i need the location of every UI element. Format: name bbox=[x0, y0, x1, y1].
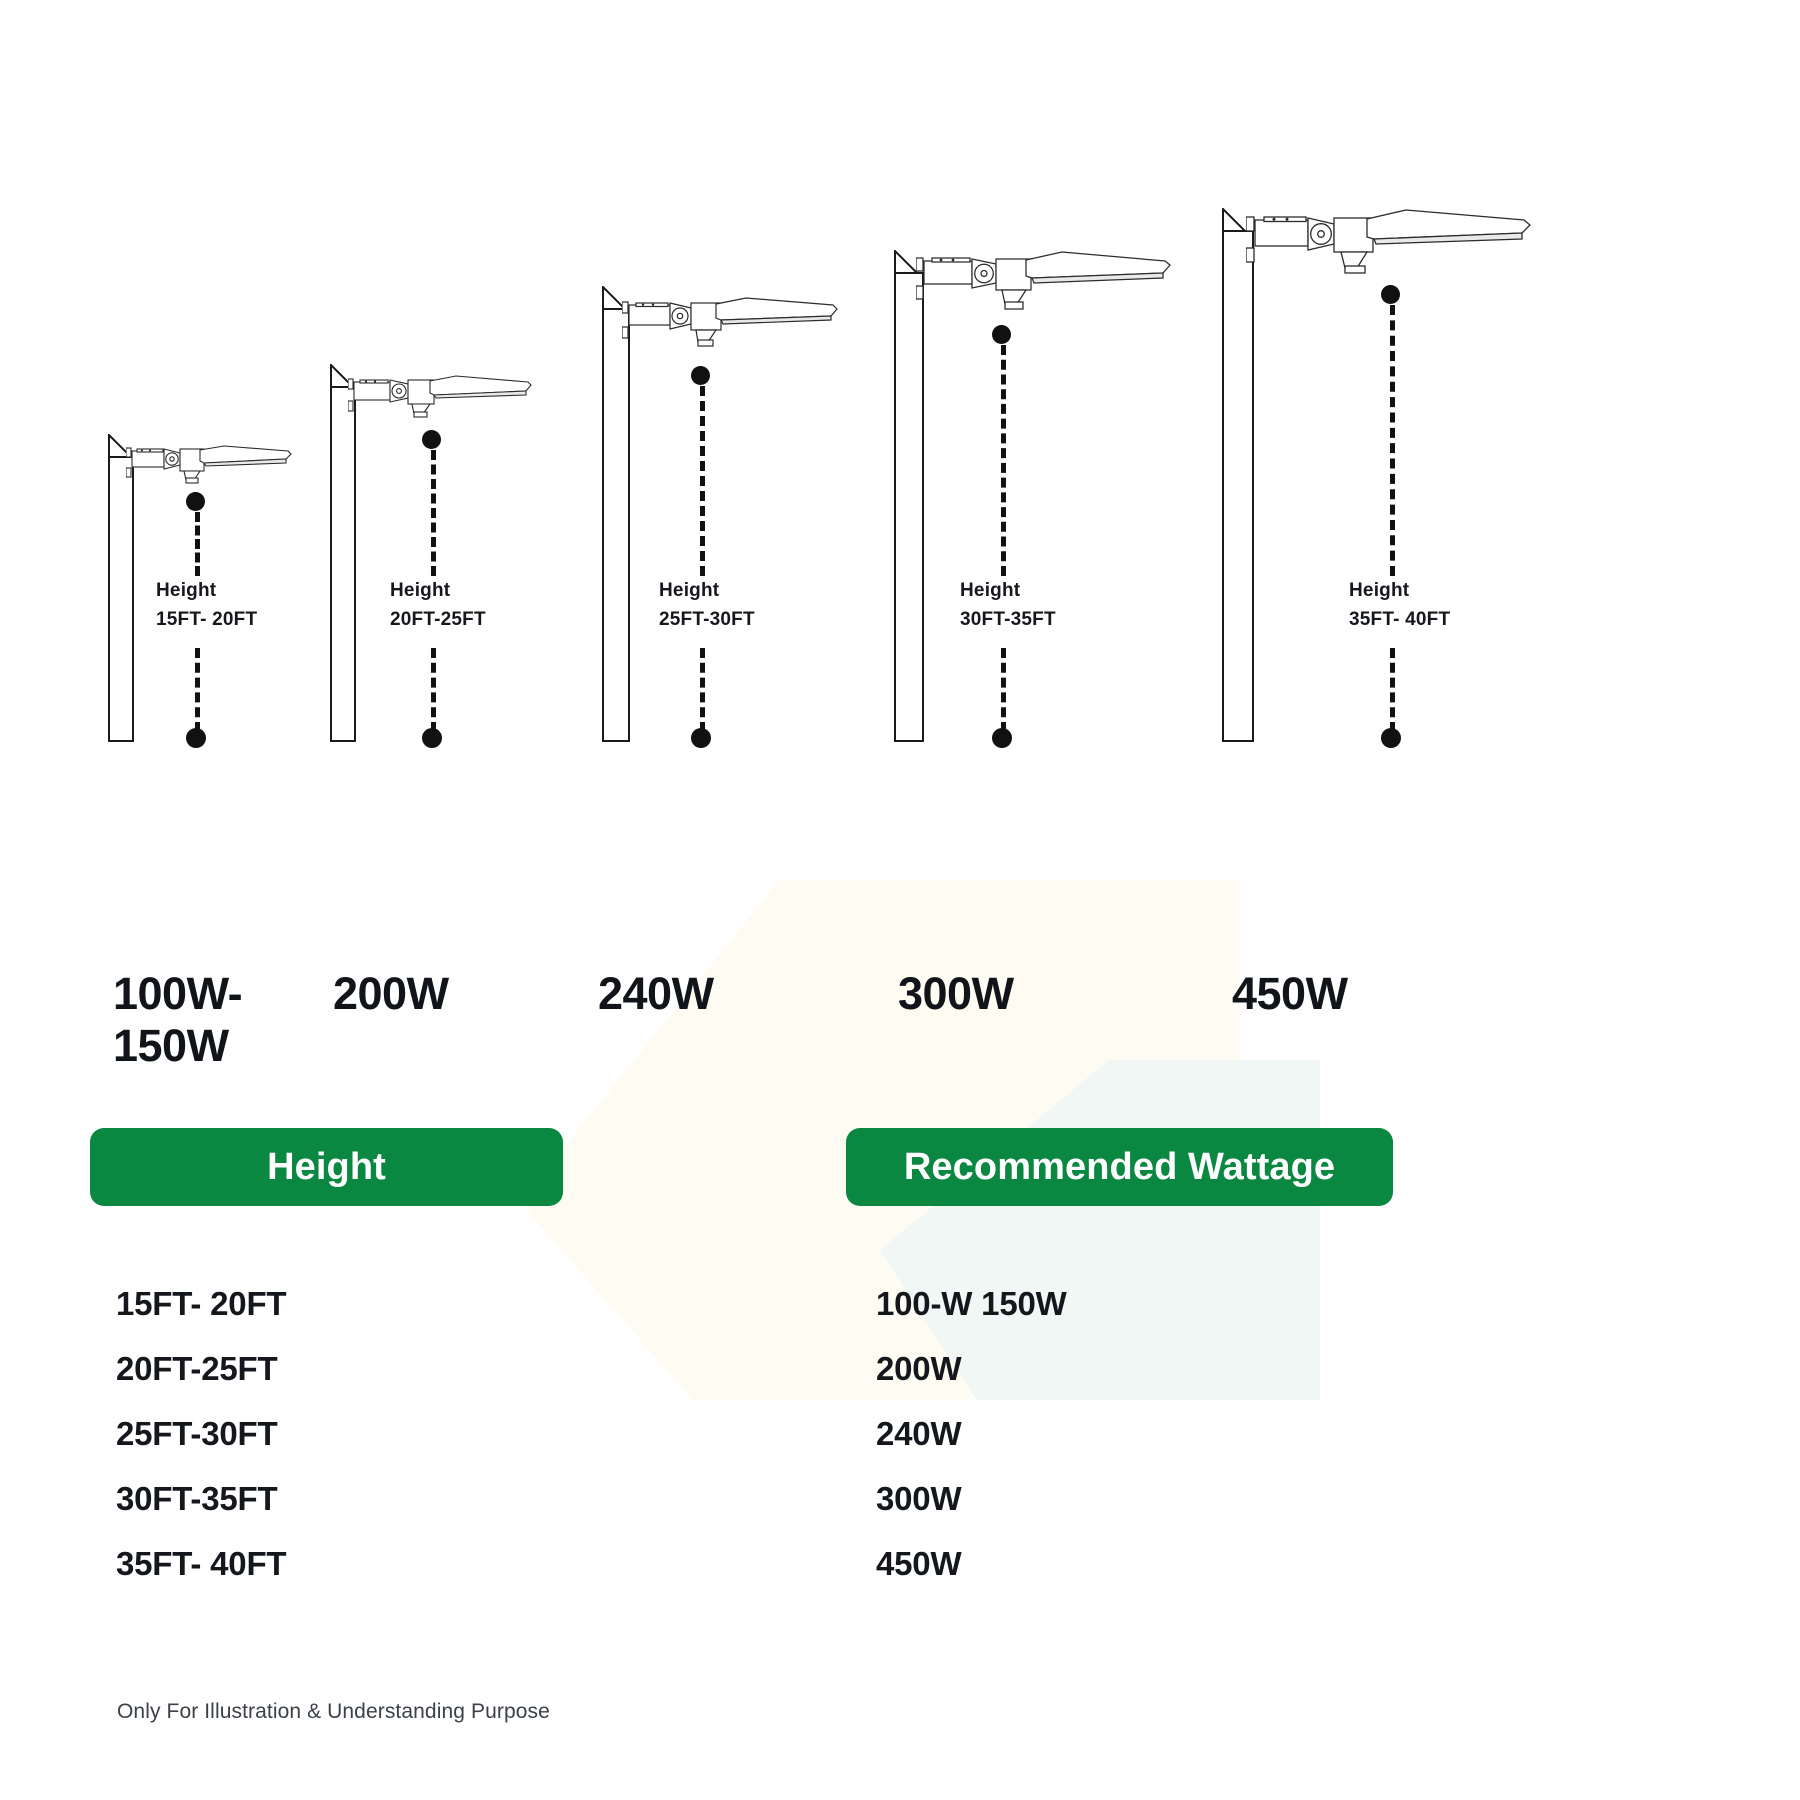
height-range-4: 30FT-35FT bbox=[960, 605, 1056, 634]
luminaire-fixture-4 bbox=[916, 246, 1174, 312]
beam-dash-lower-5 bbox=[1390, 648, 1395, 732]
height-caption-1: Height bbox=[156, 576, 257, 605]
wattage-callout-1: 100W- 150W bbox=[113, 968, 242, 1072]
beam-dash-lower-3 bbox=[700, 648, 705, 732]
height-caption-2: Height bbox=[390, 576, 486, 605]
beam-dash-upper-2 bbox=[431, 450, 436, 576]
height-caption-4: Height bbox=[960, 576, 1056, 605]
height-range-3: 25FT-30FT bbox=[659, 605, 755, 634]
beam-ground-dot-5 bbox=[1381, 728, 1401, 748]
beam-dash-lower-1 bbox=[195, 648, 200, 732]
table-cell-height-4: 30FT-35FT bbox=[116, 1480, 277, 1518]
table-cell-height-3: 25FT-30FT bbox=[116, 1415, 277, 1453]
pole-height-label-4: Height 30FT-35FT bbox=[960, 576, 1056, 635]
pole-height-label-2: Height 20FT-25FT bbox=[390, 576, 486, 635]
table-cell-wattage-5: 450W bbox=[876, 1545, 961, 1583]
beam-dash-upper-3 bbox=[700, 386, 705, 576]
beam-origin-dot-2 bbox=[422, 430, 441, 449]
wattage-column-header-pill: Recommended Wattage bbox=[846, 1128, 1393, 1206]
beam-ground-dot-3 bbox=[691, 728, 711, 748]
height-caption-5: Height bbox=[1349, 576, 1450, 605]
height-column-header-pill: Height bbox=[90, 1128, 563, 1206]
wattage-callout-1-line2: 150W bbox=[113, 1020, 242, 1072]
table-row: 15FT- 20FT 100-W 150W bbox=[0, 1285, 1800, 1350]
height-range-1: 15FT- 20FT bbox=[156, 605, 257, 634]
beam-ground-dot-1 bbox=[186, 728, 206, 748]
pole-shaft-3 bbox=[602, 308, 630, 742]
table-row: 35FT- 40FT 450W bbox=[0, 1545, 1800, 1610]
beam-ground-dot-4 bbox=[992, 728, 1012, 748]
pole-height-label-3: Height 25FT-30FT bbox=[659, 576, 755, 635]
beam-ground-dot-2 bbox=[422, 728, 442, 748]
pole-height-label-5: Height 35FT- 40FT bbox=[1349, 576, 1450, 635]
beam-origin-dot-5 bbox=[1381, 285, 1400, 304]
table-cell-height-1: 15FT- 20FT bbox=[116, 1285, 286, 1323]
table-cell-wattage-3: 240W bbox=[876, 1415, 961, 1453]
table-cell-wattage-2: 200W bbox=[876, 1350, 961, 1388]
wattage-callout-5: 450W bbox=[1232, 968, 1348, 1020]
table-row: 20FT-25FT 200W bbox=[0, 1350, 1800, 1415]
beam-origin-dot-4 bbox=[992, 325, 1011, 344]
pole-shaft-2 bbox=[330, 386, 356, 742]
table-cell-wattage-1: 100-W 150W bbox=[876, 1285, 1067, 1323]
beam-dash-lower-2 bbox=[431, 648, 436, 732]
height-caption-3: Height bbox=[659, 576, 755, 605]
luminaire-fixture-1 bbox=[126, 440, 294, 488]
wattage-callout-1-line1: 100W- bbox=[113, 968, 242, 1020]
illustration-disclaimer: Only For Illustration & Understanding Pu… bbox=[117, 1700, 550, 1724]
luminaire-fixture-5 bbox=[1246, 204, 1534, 276]
luminaire-fixture-3 bbox=[622, 292, 840, 350]
pole-shaft-1 bbox=[108, 456, 134, 742]
height-range-2: 20FT-25FT bbox=[390, 605, 486, 634]
table-cell-height-5: 35FT- 40FT bbox=[116, 1545, 286, 1583]
comparison-table: 15FT- 20FT 100-W 150W 20FT-25FT 200W 25F… bbox=[0, 1285, 1800, 1610]
table-row: 25FT-30FT 240W bbox=[0, 1415, 1800, 1480]
wattage-callout-3: 240W bbox=[598, 968, 714, 1020]
wattage-callout-2: 200W bbox=[333, 968, 449, 1020]
beam-dash-lower-4 bbox=[1001, 648, 1006, 732]
beam-dash-upper-1 bbox=[195, 512, 200, 576]
beam-dash-upper-4 bbox=[1001, 345, 1006, 576]
beam-origin-dot-1 bbox=[186, 492, 205, 511]
table-cell-height-2: 20FT-25FT bbox=[116, 1350, 277, 1388]
beam-dash-upper-5 bbox=[1390, 305, 1395, 576]
beam-origin-dot-3 bbox=[691, 366, 710, 385]
wattage-callout-4: 300W bbox=[898, 968, 1014, 1020]
height-range-5: 35FT- 40FT bbox=[1349, 605, 1450, 634]
table-row: 30FT-35FT 300W bbox=[0, 1480, 1800, 1545]
pole-height-label-1: Height 15FT- 20FT bbox=[156, 576, 257, 635]
luminaire-fixture-2 bbox=[348, 370, 534, 422]
pole-shaft-5 bbox=[1222, 230, 1254, 742]
pole-illustration-row: Height 15FT- 20FT bbox=[0, 0, 1800, 900]
table-cell-wattage-4: 300W bbox=[876, 1480, 961, 1518]
pole-shaft-4 bbox=[894, 272, 924, 742]
